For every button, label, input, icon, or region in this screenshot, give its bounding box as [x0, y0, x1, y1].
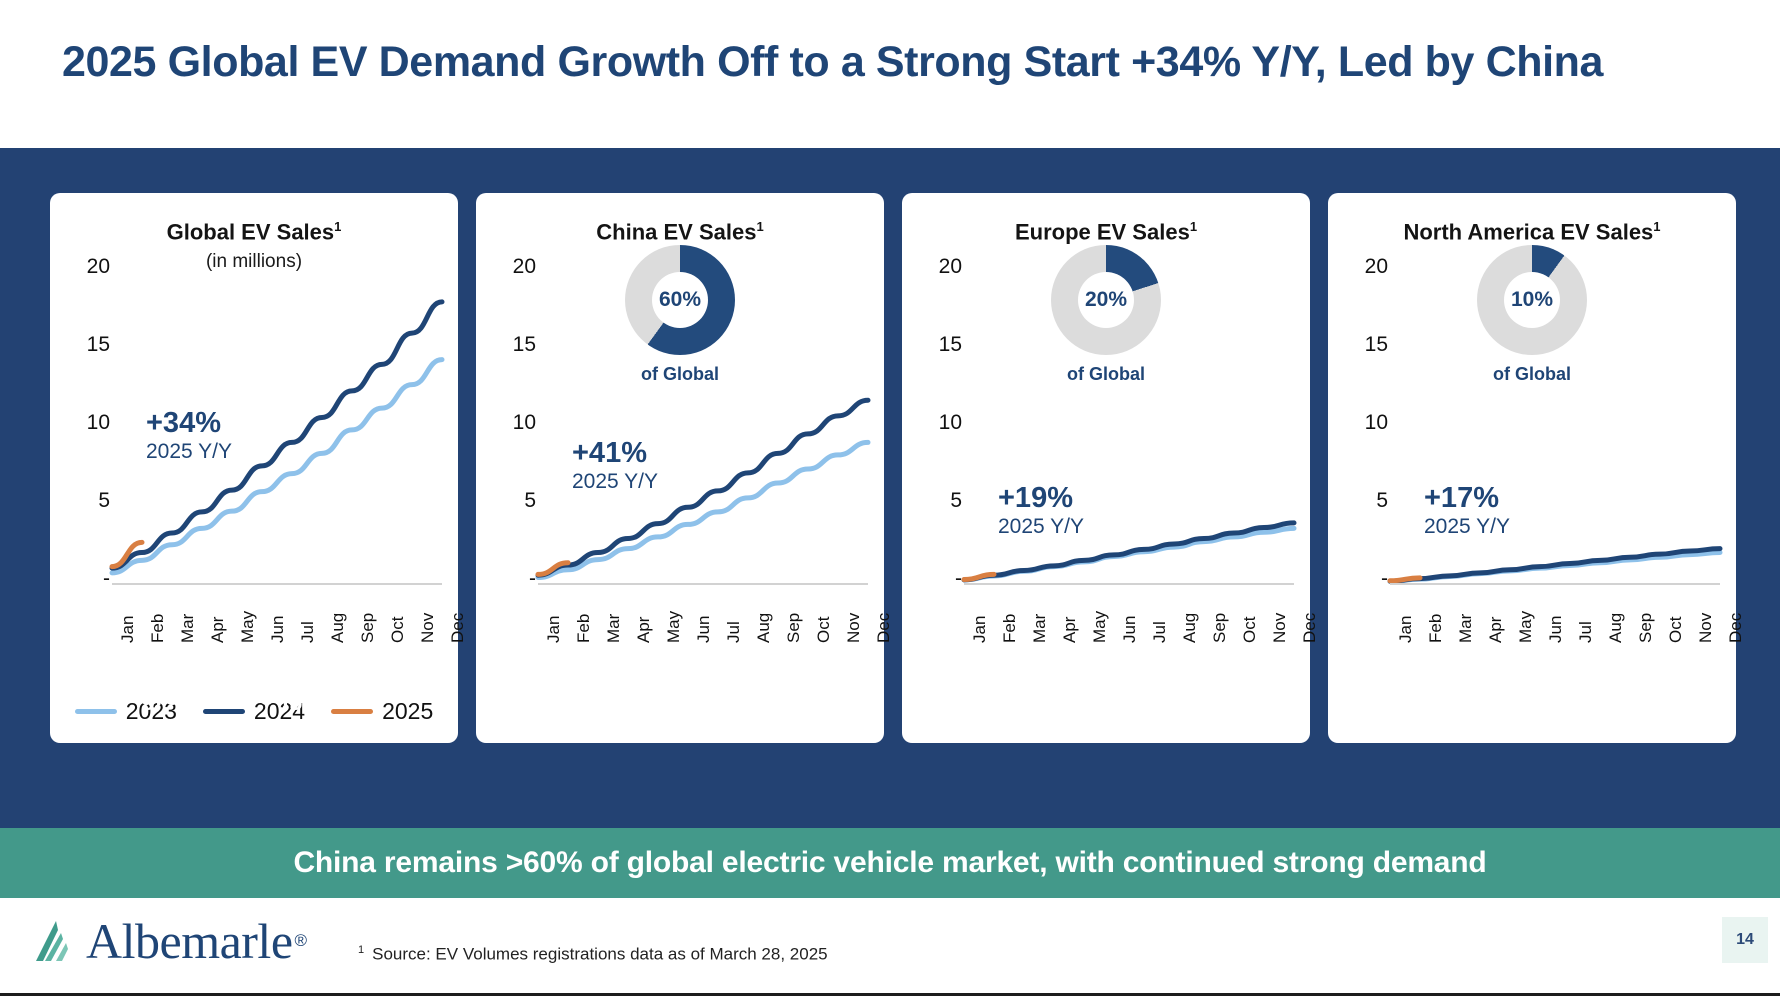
x-axis-tick-label: Nov — [1696, 613, 1716, 643]
y-axis-tick: 20 — [488, 255, 536, 279]
x-axis-tick-label: Jan — [118, 616, 138, 643]
x-axis-tick-label: Nov — [1270, 613, 1290, 643]
x-axis-tick-label: Apr — [1060, 617, 1080, 643]
panel-caption-1: Global EV sales show strong growth throu… — [54, 655, 454, 713]
panel-title-footnote-marker: 1 — [334, 219, 341, 234]
registered-mark: ® — [295, 931, 308, 951]
x-axis-line — [1390, 583, 1720, 585]
growth-percent: +17% — [1424, 483, 1510, 514]
y-axis-tick: 5 — [62, 489, 110, 513]
x-axis-tick-label: Dec — [874, 613, 894, 643]
x-axis-tick-label: Jan — [1396, 616, 1416, 643]
title-bar: 2025 Global EV Demand Growth Off to a St… — [0, 0, 1780, 148]
series-line-2025 — [964, 574, 994, 579]
panel-title: North America EV Sales1 — [1328, 219, 1736, 245]
y-axis-tick: 15 — [1340, 333, 1388, 357]
x-axis-tick-label: Apr — [634, 617, 654, 643]
x-axis-line — [538, 583, 868, 585]
x-axis-tick-label: Oct — [814, 617, 834, 643]
y-axis-tick: 15 — [488, 333, 536, 357]
series-svg — [538, 255, 868, 583]
growth-percent: +41% — [572, 438, 658, 469]
summary-banner: China remains >60% of global electric ve… — [0, 828, 1780, 898]
panel-caption-3: Europe EV strong YTD as EU emission targ… — [906, 655, 1306, 741]
line-plot-area — [538, 255, 868, 583]
y-axis-tick: 5 — [1340, 489, 1388, 513]
x-axis-tick-label: Jul — [1576, 621, 1596, 643]
x-axis-tick-label: Jun — [694, 616, 714, 643]
x-axis-tick-label: May — [238, 611, 258, 643]
panel-title: Global EV Sales1 — [50, 219, 458, 245]
y-axis-tick: - — [914, 567, 962, 591]
growth-period-label: 2025 Y/Y — [572, 469, 658, 495]
x-axis-tick-label: Apr — [208, 617, 228, 643]
albemarle-mountain-icon — [34, 919, 80, 963]
x-axis-tick-label: Jul — [298, 621, 318, 643]
x-axis-tick-label: May — [664, 611, 684, 643]
x-axis-tick-label: Jun — [268, 616, 288, 643]
growth-period-label: 2025 Y/Y — [1424, 514, 1510, 540]
x-axis-month-labels: JanFebMarAprMayJunJulAugSepOctNovDec — [1390, 589, 1720, 657]
y-axis-tick: 5 — [914, 489, 962, 513]
x-axis-tick-label: Oct — [1240, 617, 1260, 643]
x-axis-tick-label: May — [1516, 611, 1536, 643]
summary-banner-text: China remains >60% of global electric ve… — [293, 846, 1486, 880]
source-note: 1Source: EV Volumes registrations data a… — [358, 944, 828, 965]
x-axis-tick-label: Jan — [970, 616, 990, 643]
x-axis-tick-label: Aug — [1606, 613, 1626, 643]
y-axis-tick: 10 — [1340, 411, 1388, 435]
x-axis-tick-label: Dec — [448, 613, 468, 643]
x-axis-tick-label: Feb — [1000, 614, 1020, 643]
growth-percent: +34% — [146, 408, 232, 439]
x-axis-tick-label: May — [1090, 611, 1110, 643]
x-axis-tick-label: Feb — [148, 614, 168, 643]
y-axis-tick: - — [488, 567, 536, 591]
x-axis-tick-label: Aug — [1180, 613, 1200, 643]
x-axis-month-labels: JanFebMarAprMayJunJulAugSepOctNovDec — [112, 589, 442, 657]
panel-title-text: Global EV Sales — [167, 219, 335, 244]
page-number-badge: 14 — [1722, 917, 1768, 963]
growth-callout: +34%2025 Y/Y — [146, 408, 232, 466]
x-axis-tick-label: Jun — [1546, 616, 1566, 643]
growth-percent: +19% — [998, 483, 1084, 514]
x-axis-tick-label: Mar — [604, 614, 624, 643]
x-axis-tick-label: Sep — [784, 613, 804, 643]
y-axis: 2015105- — [58, 253, 110, 653]
panel-title-footnote-marker: 1 — [756, 219, 763, 234]
x-axis-tick-label: Dec — [1300, 613, 1320, 643]
growth-callout: +41%2025 Y/Y — [572, 438, 658, 496]
x-axis-line — [964, 583, 1294, 585]
y-axis-tick: 20 — [1340, 255, 1388, 279]
y-axis-tick: 10 — [62, 411, 110, 435]
series-line-2024 — [1390, 549, 1720, 581]
y-axis-tick: 20 — [62, 255, 110, 279]
x-axis-tick-label: Dec — [1726, 613, 1746, 643]
y-axis: 2015105- — [1336, 253, 1388, 653]
x-axis-tick-label: Mar — [178, 614, 198, 643]
x-axis-tick-label: Jul — [724, 621, 744, 643]
x-axis-tick-label: Oct — [388, 617, 408, 643]
x-axis-tick-label: Nov — [844, 613, 864, 643]
y-axis-tick: 10 — [488, 411, 536, 435]
panel-title-footnote-marker: 1 — [1653, 219, 1660, 234]
series-line-2025 — [1390, 578, 1420, 581]
x-axis-tick-label: Mar — [1456, 614, 1476, 643]
x-axis-tick-label: Sep — [1210, 613, 1230, 643]
panel-title-footnote-marker: 1 — [1190, 219, 1197, 234]
x-axis-tick-label: Aug — [328, 613, 348, 643]
growth-period-label: 2025 Y/Y — [146, 439, 232, 465]
x-axis-tick-label: Jul — [1150, 621, 1170, 643]
x-axis-month-labels: JanFebMarAprMayJunJulAugSepOctNovDec — [538, 589, 868, 657]
growth-callout: +17%2025 Y/Y — [1424, 483, 1510, 541]
x-axis-tick-label: Mar — [1030, 614, 1050, 643]
y-axis: 2015105- — [910, 253, 962, 653]
growth-period-label: 2025 Y/Y — [998, 514, 1084, 540]
footer: Albemarle ® 1Source: EV Volumes registra… — [0, 898, 1780, 996]
panel-caption-4: U.S. EV sales strong YTD, uncertain goin… — [1332, 655, 1732, 741]
growth-callout: +19%2025 Y/Y — [998, 483, 1084, 541]
x-axis-tick-label: Nov — [418, 613, 438, 643]
x-axis-month-labels: JanFebMarAprMayJunJulAugSepOctNovDec — [964, 589, 1294, 657]
page-title: 2025 Global EV Demand Growth Off to a St… — [62, 38, 1603, 87]
slide-root: 2025 Global EV Demand Growth Off to a St… — [0, 0, 1780, 996]
x-axis-tick-label: Sep — [1636, 613, 1656, 643]
albemarle-logo: Albemarle ® — [34, 916, 307, 966]
y-axis: 2015105- — [484, 253, 536, 653]
albemarle-wordmark: Albemarle — [86, 916, 293, 966]
x-axis-tick-label: Apr — [1486, 617, 1506, 643]
y-axis-tick: 15 — [914, 333, 962, 357]
x-axis-tick-label: Feb — [1426, 614, 1446, 643]
panel-title-text: Europe EV Sales — [1015, 219, 1190, 244]
y-axis-tick: 5 — [488, 489, 536, 513]
panel-title-text: China EV Sales — [596, 219, 756, 244]
x-axis-line — [112, 583, 442, 585]
y-axis-tick: 10 — [914, 411, 962, 435]
x-axis-tick-label: Feb — [574, 614, 594, 643]
x-axis-tick-label: Jan — [544, 616, 564, 643]
x-axis-tick-label: Sep — [358, 613, 378, 643]
source-marker: 1 — [358, 944, 364, 956]
y-axis-tick: - — [62, 567, 110, 591]
source-text: Source: EV Volumes registrations data as… — [372, 945, 827, 964]
panel-title: China EV Sales1 — [476, 219, 884, 245]
x-axis-tick-label: Oct — [1666, 617, 1686, 643]
panel-caption-2: Strong China EV sales with increased inc… — [480, 655, 880, 713]
panel-title-text: North America EV Sales — [1403, 219, 1653, 244]
x-axis-tick-label: Jun — [1120, 616, 1140, 643]
y-axis-tick: 20 — [914, 255, 962, 279]
y-axis-tick: - — [1340, 567, 1388, 591]
x-axis-tick-label: Aug — [754, 613, 774, 643]
panel-title: Europe EV Sales1 — [902, 219, 1310, 245]
y-axis-tick: 15 — [62, 333, 110, 357]
